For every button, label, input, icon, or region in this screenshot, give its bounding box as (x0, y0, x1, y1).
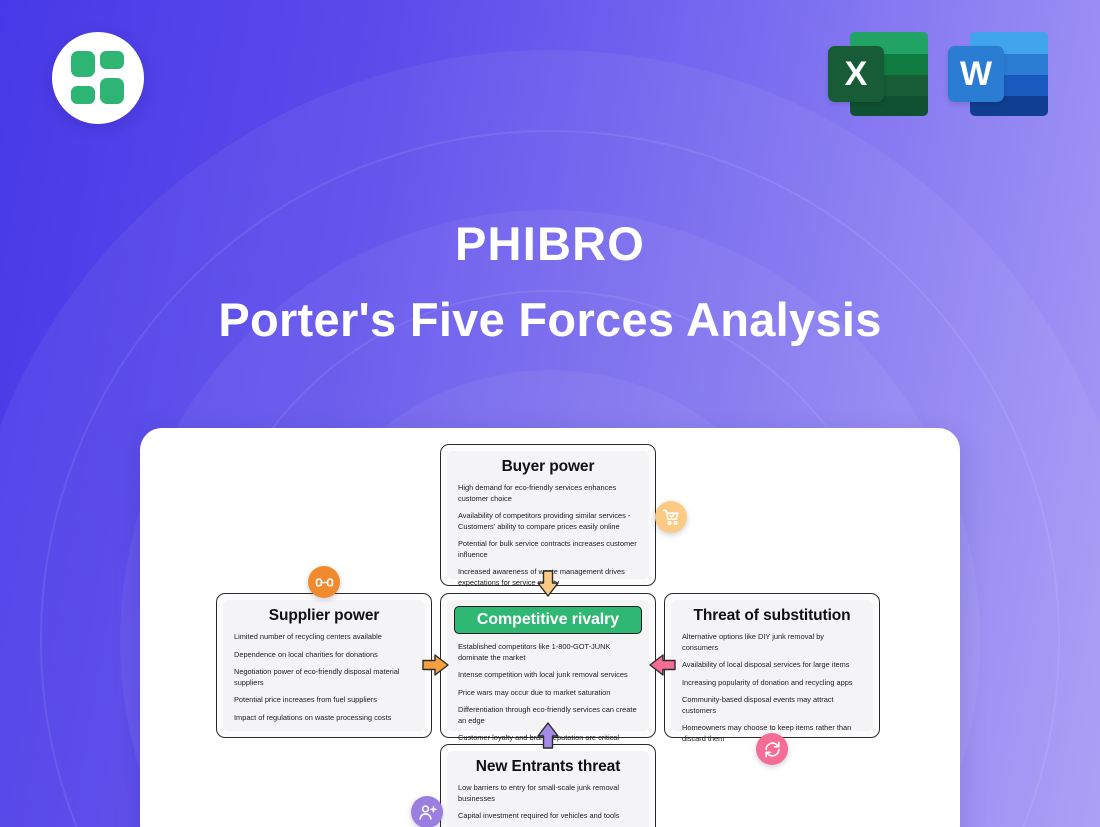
force-items-new-entrants-threat: Low barriers to entry for small-scale ju… (458, 783, 638, 827)
list-item: Increasing popularity of donation and re… (682, 678, 862, 689)
force-title-new-entrants-threat: New Entrants threat (458, 758, 638, 776)
list-item: Availability of competitors providing si… (458, 511, 638, 532)
force-box-inner: Supplier power Limited number of recycli… (223, 600, 425, 731)
link-icon[interactable] (308, 566, 340, 598)
word-badge-letter: W (948, 46, 1004, 102)
logo-tile-4 (100, 78, 124, 104)
force-box-inner: Competitive rivalry Established competit… (447, 600, 649, 731)
word-icon[interactable]: W (948, 28, 1048, 120)
force-box-inner: Threat of substitution Alternative optio… (671, 600, 873, 731)
porters-five-forces-diagram: Buyer power High demand for eco-friendly… (140, 428, 960, 827)
list-item: Potential price increases from fuel supp… (234, 695, 414, 706)
list-item: Low barriers to entry for small-scale ju… (458, 783, 638, 804)
excel-icon[interactable]: X (828, 28, 928, 120)
force-box-inner: New Entrants threat Low barriers to entr… (447, 751, 649, 827)
list-item: Negotiation power of eco-friendly dispos… (234, 667, 414, 688)
list-item: Alternative options like DIY junk remova… (682, 632, 862, 653)
list-item: Price wars may occur due to market satur… (458, 688, 638, 699)
logo-tile-2 (100, 51, 124, 69)
force-title-threat-of-substitution: Threat of substitution (682, 607, 862, 625)
title-block: PHIBRO Porter's Five Forces Analysis (0, 216, 1100, 349)
list-item: Dependence on local charities for donati… (234, 650, 414, 661)
logo-grid-icon (71, 51, 125, 105)
list-item: Community-based disposal events may attr… (682, 695, 862, 716)
force-box-supplier-power[interactable]: Supplier power Limited number of recycli… (216, 593, 432, 738)
force-box-threat-of-substitution[interactable]: Threat of substitution Alternative optio… (664, 593, 880, 738)
arrow-supplier-to-rivalry (422, 651, 450, 679)
list-item: Capital investment required for vehicles… (458, 811, 638, 822)
list-item: Established competitors like 1-800-GOT-J… (458, 642, 638, 663)
force-box-inner: Buyer power High demand for eco-friendly… (447, 451, 649, 579)
force-box-buyer-power[interactable]: Buyer power High demand for eco-friendly… (440, 444, 656, 586)
list-item: Potential for bulk service contracts inc… (458, 539, 638, 560)
force-title-supplier-power: Supplier power (234, 607, 414, 625)
arrow-substitution-to-rivalry (648, 651, 676, 679)
logo-tile-3 (71, 86, 95, 104)
list-item: High demand for eco-friendly services en… (458, 483, 638, 504)
force-items-threat-of-substitution: Alternative options like DIY junk remova… (682, 632, 862, 744)
add-user-icon[interactable] (411, 796, 443, 827)
force-box-competitive-rivalry[interactable]: Competitive rivalry Established competit… (440, 593, 656, 738)
force-title-buyer-power: Buyer power (458, 458, 638, 476)
excel-badge-letter: X (828, 46, 884, 102)
arrow-buyer-to-rivalry (534, 570, 562, 598)
force-title-competitive-rivalry: Competitive rivalry (454, 606, 642, 634)
page-title: Porter's Five Forces Analysis (0, 292, 1100, 348)
company-name: PHIBRO (0, 216, 1100, 272)
force-items-supplier-power: Limited number of recycling centers avai… (234, 632, 414, 723)
list-item: Availability of local disposal services … (682, 660, 862, 671)
export-format-icons: X W (828, 28, 1048, 120)
arrow-entrants-to-rivalry (534, 721, 562, 749)
logo-tile-1 (71, 51, 95, 77)
shopping-cart-icon[interactable] (655, 501, 687, 533)
app-logo (52, 32, 144, 124)
list-item: Limited number of recycling centers avai… (234, 632, 414, 643)
list-item: Impact of regulations on waste processin… (234, 713, 414, 724)
force-box-new-entrants-threat[interactable]: New Entrants threat Low barriers to entr… (440, 744, 656, 827)
diagram-canvas-card: Buyer power High demand for eco-friendly… (140, 428, 960, 827)
refresh-icon[interactable] (756, 733, 788, 765)
list-item: Intense competition with local junk remo… (458, 670, 638, 681)
